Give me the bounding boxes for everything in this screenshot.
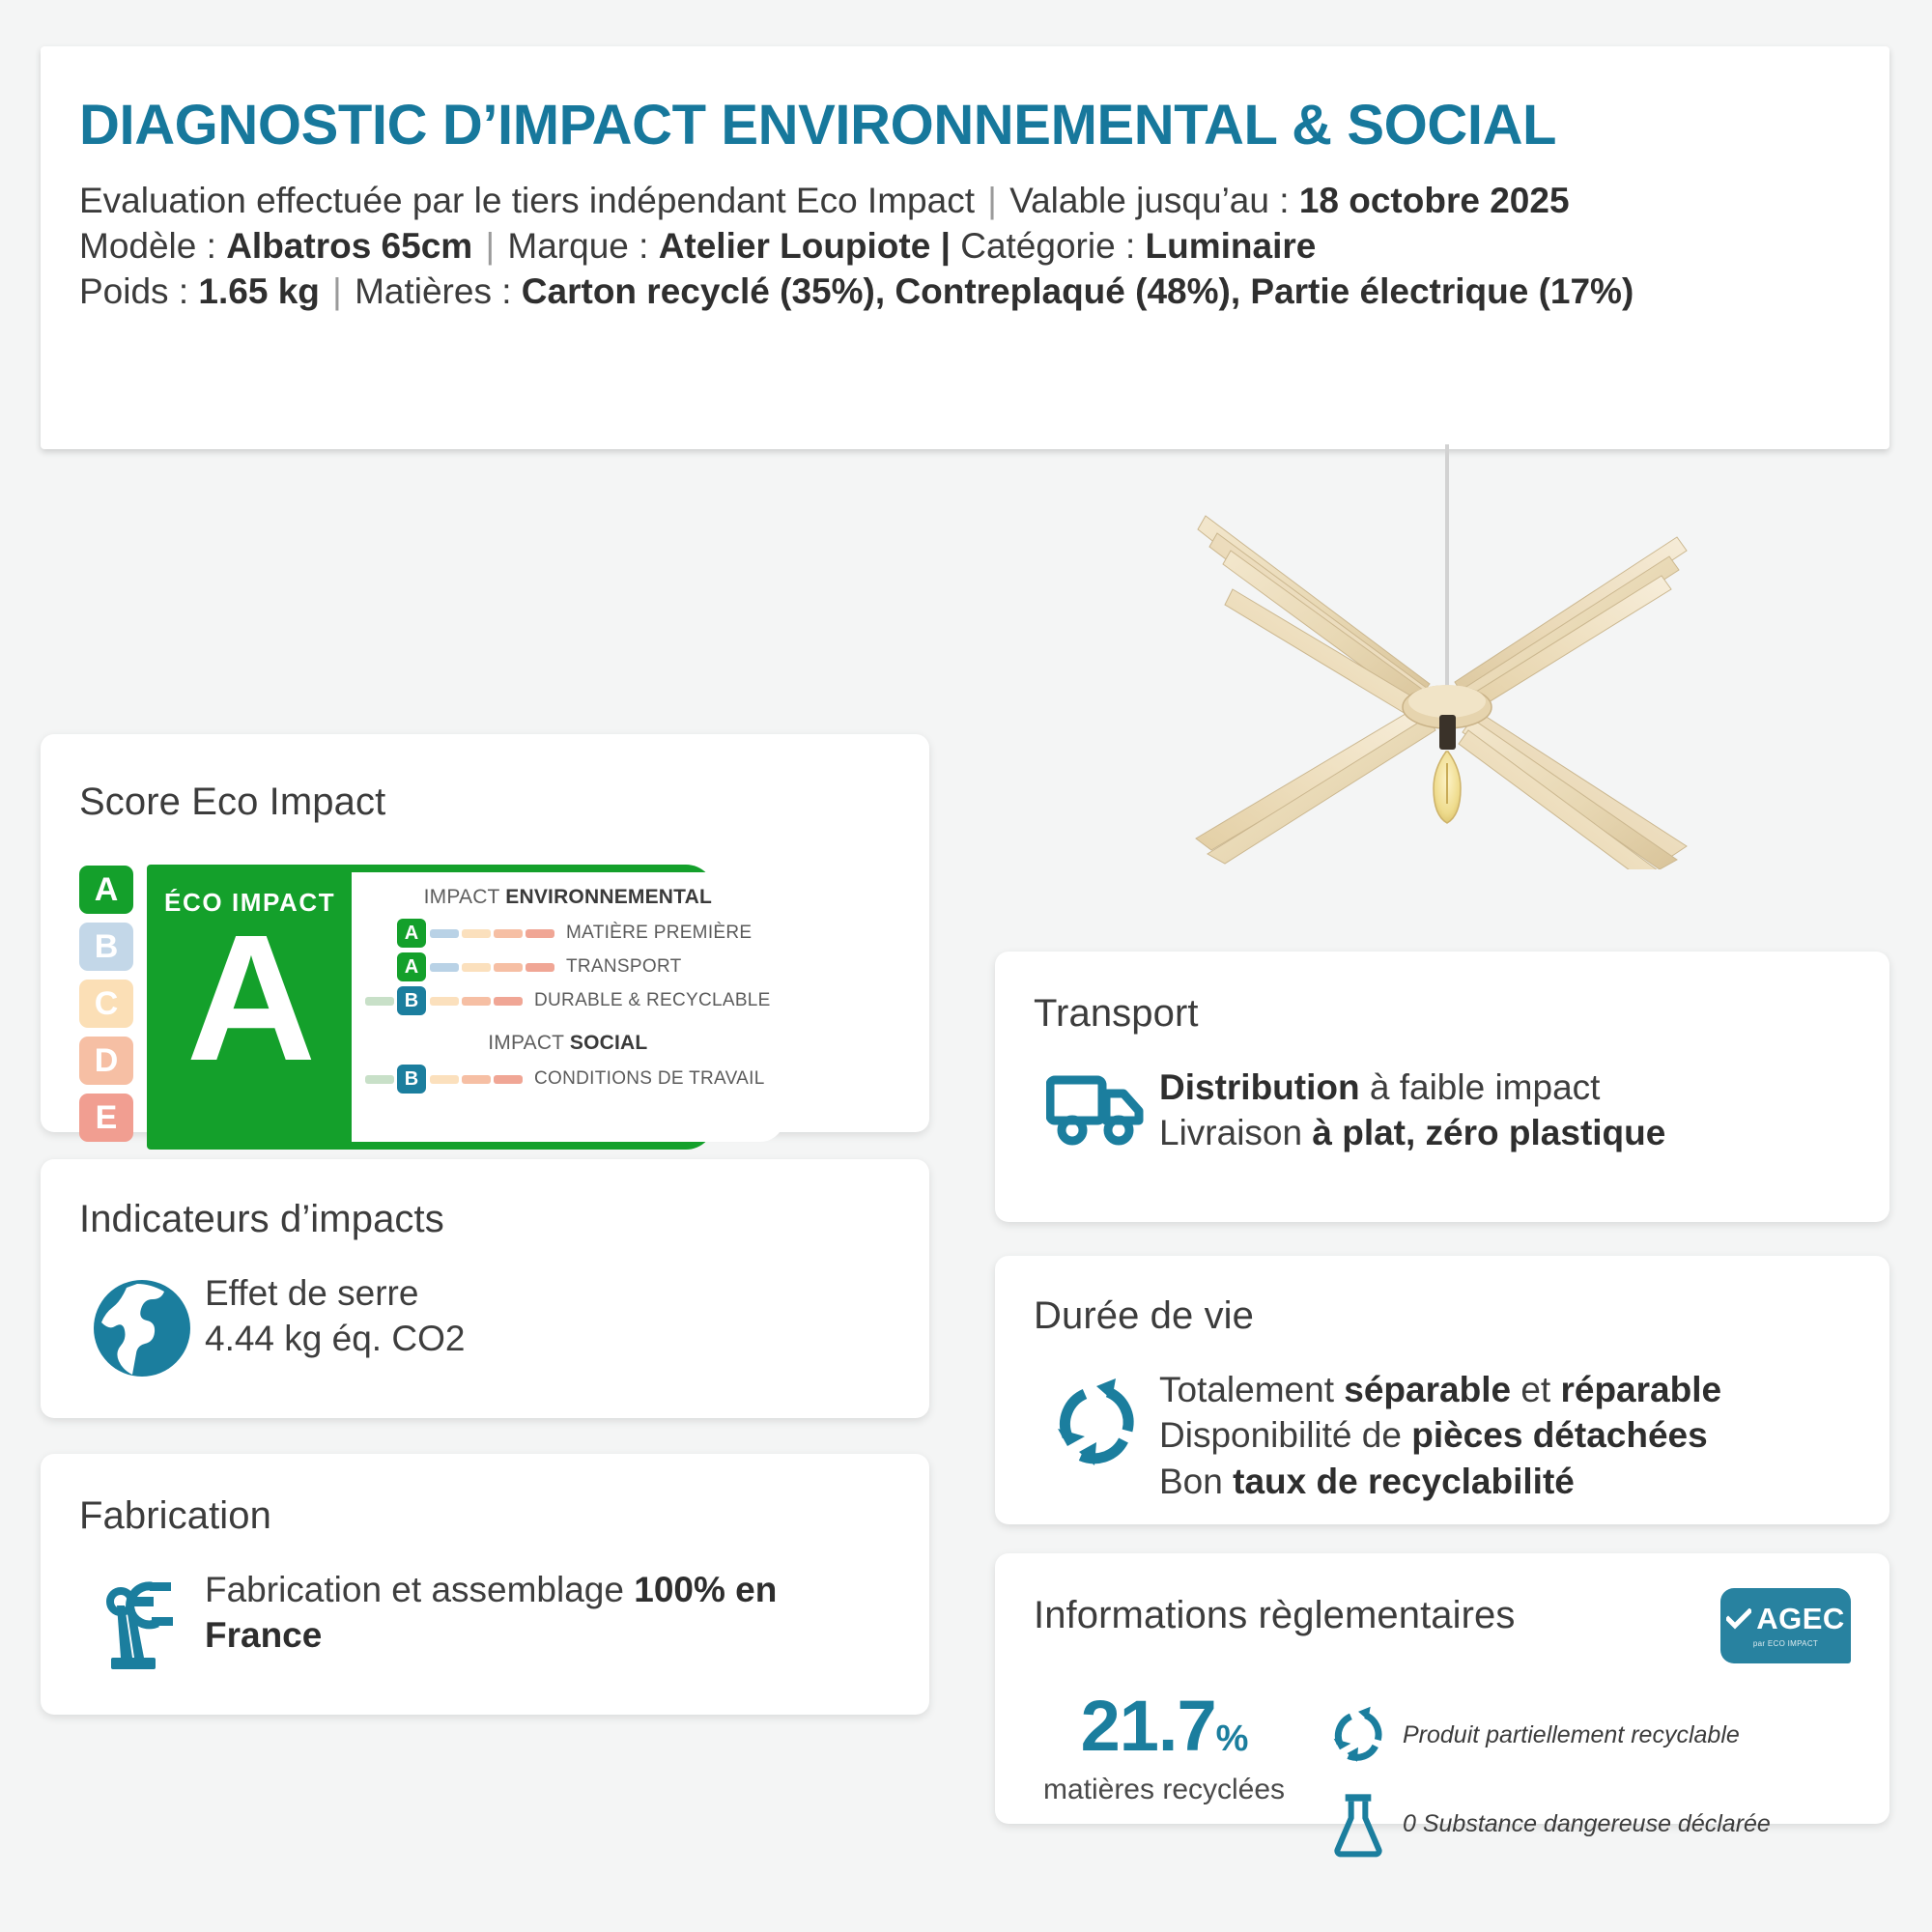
flask-icon	[1314, 1790, 1403, 1858]
bar-segment	[526, 929, 554, 938]
regulatory-item-recyclable: Produit partiellement recyclable	[1314, 1690, 1851, 1779]
bar-segment	[526, 963, 554, 972]
lifespan-line1-b2: réparable	[1560, 1370, 1721, 1409]
agec-badge: AGEC par ECO IMPACT	[1720, 1588, 1851, 1663]
grade-chip-a: A	[79, 866, 133, 914]
lifespan-line-2: Disponibilité de pièces détachées	[1159, 1412, 1721, 1458]
manufacturing-text-pre: Fabrication et assemblage	[205, 1570, 634, 1609]
criterion-grade-badge: B	[397, 1065, 426, 1094]
card-title-transport: Transport	[1034, 992, 1851, 1036]
lifespan-line3-bold: taux de recyclabilité	[1233, 1462, 1575, 1501]
grade-scale: A B C D E	[79, 865, 133, 1142]
criterion-durable-recyclable: B DURABLE & RECYCLABLE	[365, 985, 771, 1016]
model-value: Albatros 65cm	[226, 226, 472, 266]
bar-segment	[494, 963, 523, 972]
validity-value: 18 octobre 2025	[1299, 181, 1570, 220]
bar-segment	[462, 963, 491, 972]
meta-separator: |	[329, 271, 345, 311]
weight-materials-line: Poids : 1.65 kg | Matières : Carton recy…	[79, 270, 1851, 315]
criterion-transport: A TRANSPORT	[365, 952, 771, 982]
brand-label: Marque :	[507, 226, 648, 266]
grade-chip-e: E	[79, 1094, 133, 1142]
lifespan-line1-pre: Totalement	[1159, 1370, 1344, 1409]
transport-line1-bold: Distribution	[1159, 1067, 1360, 1107]
lifespan-line-1: Totalement séparable et réparable	[1159, 1367, 1721, 1412]
bar-segment	[430, 997, 459, 1006]
regulatory-item-text: 0 Substance dangereuse déclarée	[1403, 1810, 1771, 1838]
evaluator-text: Evaluation effectuée par le tiers indépe…	[79, 181, 975, 220]
product-image	[1140, 444, 1719, 869]
bar-segment	[462, 929, 491, 938]
lifespan-line2-bold: pièces détachées	[1411, 1415, 1707, 1455]
card-title-regulatory: Informations règlementaires	[1034, 1594, 1515, 1637]
criterion-pre-segment	[365, 963, 394, 972]
transport-line1-rest: à faible impact	[1360, 1067, 1601, 1107]
lifespan-line2-pre: Disponibilité de	[1159, 1415, 1411, 1455]
manufacturing-card: Fabrication Fabrication et assemblage 10…	[41, 1454, 929, 1715]
indicators-text: Effet de serre 4.44 kg éq. CO2	[205, 1270, 465, 1362]
bar-segment	[494, 1075, 523, 1084]
agec-badge-main: AGEC	[1726, 1604, 1845, 1634]
eco-diagnostic-page: DIAGNOSTIC D’IMPACT ENVIRONNEMENTAL & SO…	[0, 0, 1932, 1932]
weight-value: 1.65 kg	[198, 271, 319, 311]
bar-segment	[462, 997, 491, 1006]
criterion-grade-badge: A	[397, 952, 426, 981]
validity-label: Valable jusqu’au :	[1009, 181, 1289, 220]
indicator-name: Effet de serre	[205, 1270, 465, 1316]
social-section-heading: IMPACT SOCIAL	[365, 1032, 771, 1055]
grade-chip-c: C	[79, 980, 133, 1028]
materials-value: Carton recyclé (35%), Contreplaqué (48%)…	[522, 271, 1634, 311]
card-title-lifespan: Durée de vie	[1034, 1294, 1851, 1338]
eco-label-overall-grade: A	[147, 909, 352, 1089]
regulatory-card: Informations règlementaires AGEC par ECO…	[995, 1553, 1889, 1824]
indicators-content: Effet de serre 4.44 kg éq. CO2	[79, 1270, 891, 1380]
criterion-pre-segment	[365, 997, 394, 1006]
env-section-heading: IMPACT ENVIRONNEMENTAL	[365, 886, 771, 909]
criterion-grade-badge: A	[397, 919, 426, 948]
bar-segment	[494, 929, 523, 938]
criterion-label: DURABLE & RECYCLABLE	[534, 990, 771, 1011]
criterion-label: CONDITIONS DE TRAVAIL	[534, 1068, 765, 1090]
recycled-materials-stat: 21.7% matières recyclées	[1034, 1690, 1294, 1806]
agec-badge-subtitle: par ECO IMPACT	[1753, 1639, 1818, 1648]
regulatory-item-text: Produit partiellement recyclable	[1403, 1721, 1740, 1749]
lifespan-card: Durée de vie Totalement séparable et rép…	[995, 1256, 1889, 1524]
lifespan-line3-pre: Bon	[1159, 1462, 1233, 1501]
eco-label-left: ÉCO IMPACT A	[147, 865, 352, 1150]
criterion-matiere-premiere: A MATIÈRE PREMIÈRE	[365, 918, 771, 949]
brand-value: Atelier Loupiote |	[659, 226, 951, 266]
indicator-value: 4.44 kg éq. CO2	[205, 1316, 465, 1361]
weight-label: Poids :	[79, 271, 188, 311]
regulatory-header: Informations règlementaires AGEC par ECO…	[1034, 1594, 1851, 1663]
lifespan-text: Totalement séparable et réparable Dispon…	[1159, 1367, 1721, 1504]
check-icon	[1726, 1608, 1751, 1630]
criterion-label: MATIÈRE PREMIÈRE	[566, 923, 752, 944]
bar-segment	[494, 997, 523, 1006]
card-title-score: Score Eco Impact	[79, 781, 891, 824]
regulatory-body: 21.7% matières recyclées	[1034, 1690, 1851, 1868]
criterion-conditions-travail: B CONDITIONS DE TRAVAIL	[365, 1064, 771, 1094]
card-title-manufacturing: Fabrication	[79, 1494, 891, 1538]
criterion-bar-track	[430, 929, 554, 938]
criterion-bar-track	[430, 1075, 523, 1084]
recycle-arrows-icon	[1034, 1367, 1159, 1473]
model-line: Modèle : Albatros 65cm | Marque : Atelie…	[79, 224, 1851, 270]
recycle-arrows-icon	[1314, 1701, 1403, 1769]
pendant-lamp-photo	[1140, 444, 1719, 869]
lifespan-line-3: Bon taux de recyclabilité	[1159, 1459, 1721, 1504]
regulatory-item-substances: 0 Substance dangereuse déclarée	[1314, 1779, 1851, 1868]
transport-card: Transport Distribution à faible impact L…	[995, 952, 1889, 1222]
bar-segment	[430, 963, 459, 972]
grade-chip-d: D	[79, 1037, 133, 1085]
category-label: Catégorie :	[960, 226, 1135, 266]
criterion-bar-track	[430, 963, 554, 972]
eco-label-criteria-panel: IMPACT ENVIRONNEMENTAL A MATIÈRE PREMIÈR…	[352, 872, 784, 1142]
bar-segment	[430, 929, 459, 938]
card-title-indicators: Indicateurs d’impacts	[79, 1198, 891, 1241]
manufacturing-text: Fabrication et assemblage 100% en France	[205, 1567, 891, 1659]
model-label: Modèle :	[79, 226, 216, 266]
grade-chip-b: B	[79, 923, 133, 971]
criterion-grade-badge: B	[397, 986, 426, 1015]
regulatory-items: Produit partiellement recyclable 0 Subst…	[1294, 1690, 1851, 1868]
recycled-value: 21.7	[1081, 1686, 1216, 1766]
bar-segment	[430, 1075, 459, 1084]
meta-separator: |	[482, 226, 497, 266]
env-heading-bold: ENVIRONNEMENTAL	[505, 886, 712, 908]
eco-impact-label: A B C D E ÉCO IMPACT A IMPACT ENVIRONNEM…	[79, 865, 891, 1150]
social-heading-bold: SOCIAL	[570, 1032, 648, 1054]
env-heading-light: IMPACT	[424, 886, 506, 908]
transport-content: Distribution à faible impact Livraison à…	[1034, 1065, 1851, 1156]
recycled-unit: %	[1216, 1719, 1248, 1759]
truck-icon	[1034, 1065, 1159, 1146]
transport-line2-bold: à plat, zéro plastique	[1312, 1113, 1665, 1152]
criterion-bar-track	[430, 997, 523, 1006]
criterion-label: TRANSPORT	[566, 956, 682, 978]
materials-label: Matières :	[355, 271, 511, 311]
bar-segment	[462, 1075, 491, 1084]
evaluator-line: Evaluation effectuée par le tiers indépe…	[79, 179, 1851, 224]
eco-label-body: ÉCO IMPACT A IMPACT ENVIRONNEMENTAL A	[147, 865, 715, 1150]
recycled-label: matières recyclées	[1034, 1774, 1294, 1806]
criterion-pre-segment	[365, 929, 394, 938]
lifespan-content: Totalement séparable et réparable Dispon…	[1034, 1367, 1851, 1504]
agec-badge-name: AGEC	[1756, 1604, 1845, 1634]
manufacturing-content: Fabrication et assemblage 100% en France	[79, 1567, 891, 1673]
indicators-card: Indicateurs d’impacts Effet de serre 4.4…	[41, 1159, 929, 1418]
robot-arm-icon	[79, 1567, 205, 1673]
header-card: DIAGNOSTIC D’IMPACT ENVIRONNEMENTAL & SO…	[41, 46, 1889, 449]
criterion-pre-segment	[365, 1075, 394, 1084]
page-title: DIAGNOSTIC D’IMPACT ENVIRONNEMENTAL & SO…	[79, 97, 1851, 156]
meta-separator: |	[984, 181, 1000, 220]
category-value: Luminaire	[1146, 226, 1317, 266]
social-heading-light: IMPACT	[488, 1032, 570, 1054]
transport-line-1: Distribution à faible impact	[1159, 1065, 1665, 1110]
globe-icon	[79, 1270, 205, 1380]
transport-text: Distribution à faible impact Livraison à…	[1159, 1065, 1665, 1156]
score-eco-impact-card: Score Eco Impact A B C D E ÉCO IMPACT A …	[41, 734, 929, 1132]
transport-line2-rest: Livraison	[1159, 1113, 1312, 1152]
transport-line-2: Livraison à plat, zéro plastique	[1159, 1110, 1665, 1155]
lifespan-line1-b1: séparable	[1344, 1370, 1511, 1409]
lifespan-line1-mid: et	[1511, 1370, 1560, 1409]
recycled-percentage: 21.7%	[1034, 1690, 1294, 1762]
